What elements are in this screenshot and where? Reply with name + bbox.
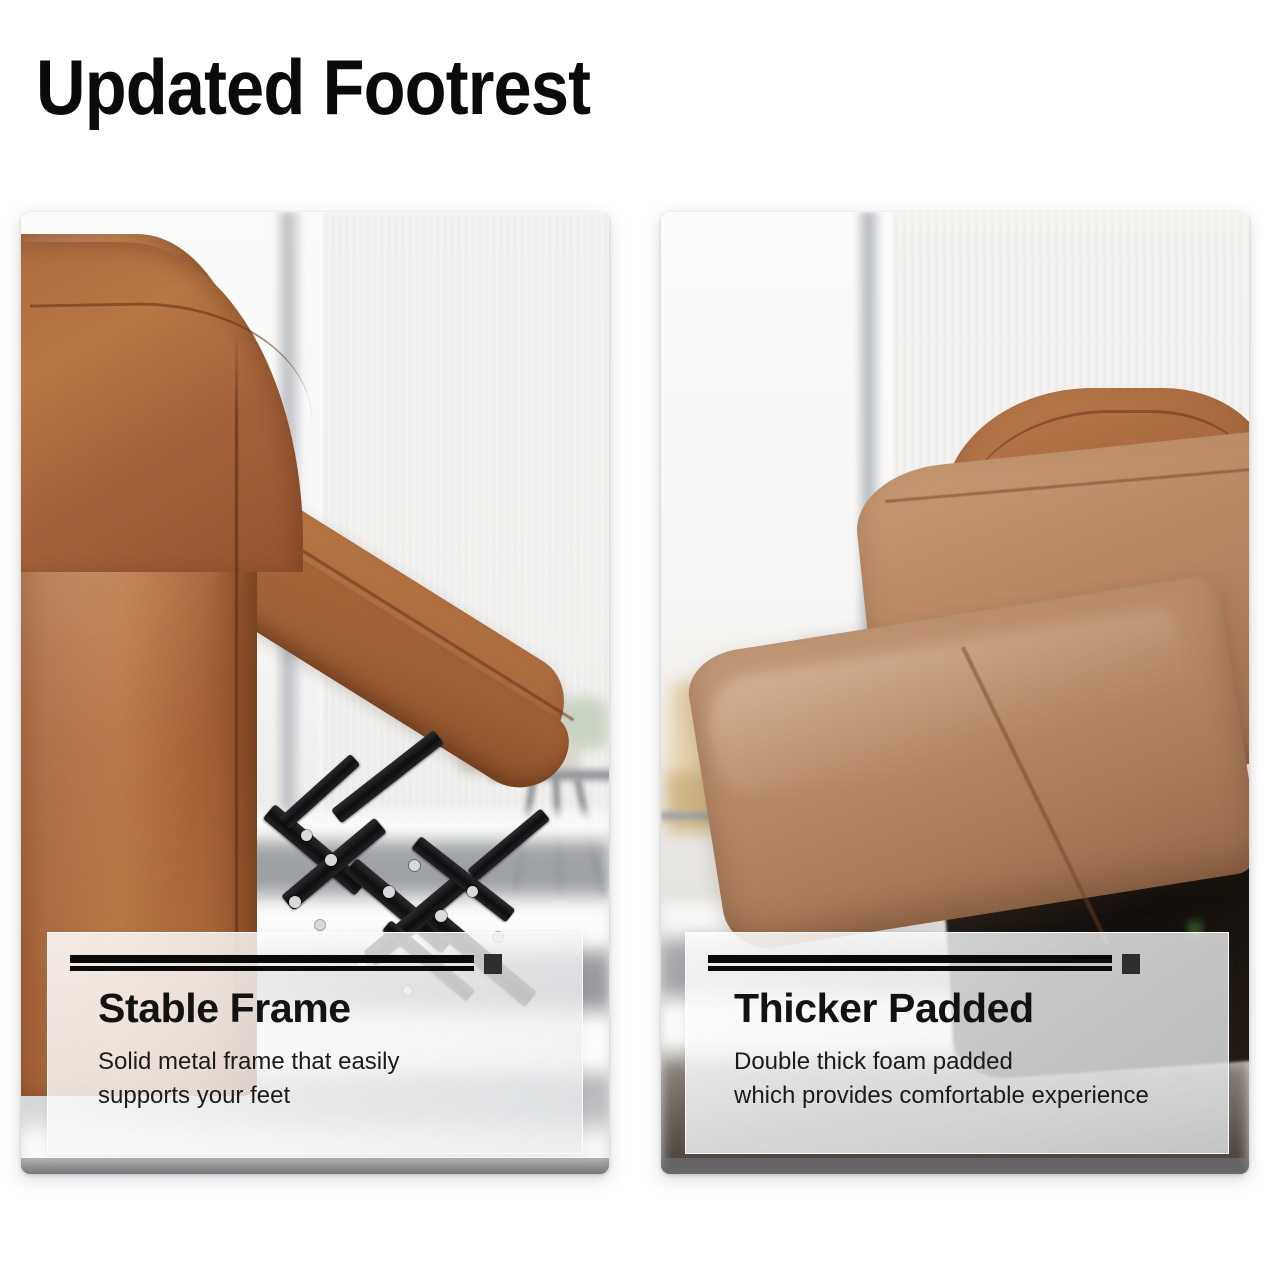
accent-bars-icon [708, 953, 1170, 977]
caption-box-stable-frame: Stable Frame Solid metal frame that easi… [47, 932, 583, 1154]
infographic-page: Updated Footrest [0, 0, 1263, 1263]
caption-title: Thicker Padded [734, 985, 1034, 1032]
feature-panel-stable-frame[interactable]: Stable Frame Solid metal frame that easi… [21, 212, 609, 1174]
caption-title: Stable Frame [98, 985, 351, 1032]
feature-panel-thicker-padded[interactable]: Thicker Padded Double thick foam padded … [661, 212, 1249, 1174]
accent-bars-icon [70, 953, 532, 977]
accent-bar-thin [708, 966, 1112, 971]
caption-body: Double thick foam padded which provides … [734, 1045, 1149, 1113]
accent-bar-thick [708, 955, 1112, 963]
back-stitch-seam [235, 332, 238, 1032]
caption-box-thicker-padded: Thicker Padded Double thick foam padded … [685, 932, 1229, 1154]
caption-body: Solid metal frame that easily supports y… [98, 1045, 399, 1113]
accent-bar-thin [70, 966, 474, 971]
panel-bottom-band [21, 1158, 609, 1174]
accent-square-icon [484, 954, 502, 974]
accent-square-icon [1122, 954, 1140, 974]
accent-bar-thick [70, 955, 474, 963]
panel-bottom-band [661, 1158, 1249, 1174]
page-title: Updated Footrest [36, 48, 590, 126]
panel-row: Stable Frame Solid metal frame that easi… [0, 208, 1263, 1188]
